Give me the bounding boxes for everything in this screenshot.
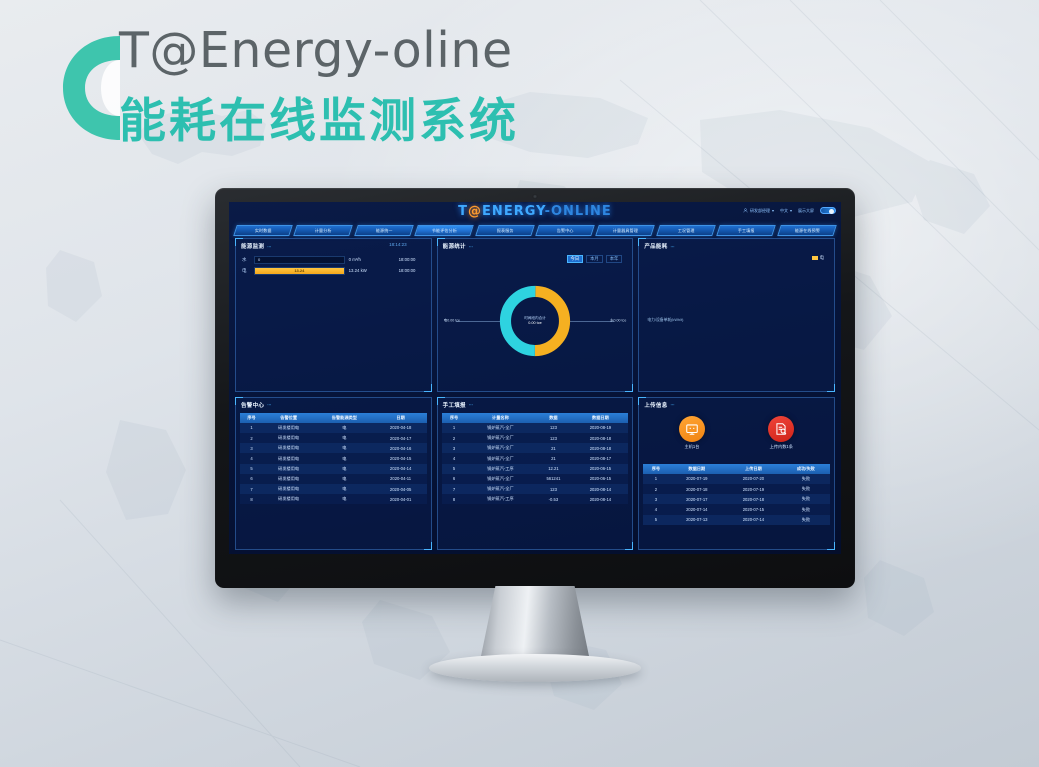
brand-prefix: T (458, 204, 468, 219)
donut-label-left: 电0.00 tce (444, 318, 460, 323)
cell-0: 8 (442, 494, 467, 504)
monitor-screen: T@ENERGY-ONLINE 研发部经理 ▾ 中文 ▾ 展示大 (229, 202, 841, 554)
cell-0: 4 (240, 453, 263, 463)
table-row[interactable]: 2研发楼用电电2020-04-17 (240, 433, 427, 443)
manual-entry-table-wrap[interactable]: 序号计量名称数据数据日期 1锅炉蒸汽-全厂1232020-08-192锅炉蒸汽-… (442, 413, 629, 548)
table-row[interactable]: 5锅炉蒸汽-工序12.212020-06-15 (442, 464, 629, 474)
user-icon (743, 208, 748, 213)
cell-1: 锅炉蒸汽-工序 (466, 464, 534, 474)
cell-1: 研发楼用电 (263, 494, 314, 504)
cell-2: 电 (314, 464, 374, 474)
cell-3: 2020-08-14 (572, 494, 628, 504)
alarm-center-table: 序号告警位置告警能源类型日期 1研发楼用电电2020-04-182研发楼用电电2… (240, 413, 427, 505)
cell-2: 21 (534, 453, 572, 463)
webcam-icon (533, 194, 538, 199)
column-header-3: 日期 (375, 413, 427, 423)
panel-more-icon-2[interactable]: ⋯ (469, 244, 473, 249)
table-row[interactable]: 1锅炉蒸汽-全厂1232020-08-19 (442, 423, 629, 433)
cell-3: 2020-04-17 (375, 433, 427, 443)
cell-2: 123 (534, 433, 572, 443)
cell-1: 研发楼用电 (263, 484, 314, 494)
upload-stat-host-label: 主机1台 (679, 444, 705, 450)
cell-1: 研发楼用电 (263, 423, 314, 433)
panel-more-icon-4[interactable]: ⋯ (267, 402, 271, 407)
cell-1: 锅炉蒸汽-全厂 (466, 474, 534, 484)
cell-1: 2020-07-14 (668, 504, 725, 514)
cell-1: 锅炉蒸汽-全厂 (466, 443, 534, 453)
energy-bar-value-electric: 13.24 (294, 268, 304, 273)
cell-1: 锅炉蒸汽-全厂 (466, 433, 534, 443)
donut-center-label: 时间段内合计 0.00 tce (524, 316, 546, 326)
donut-center-title: 时间段内合计 (524, 316, 546, 321)
column-header-3: 成功/失败 (782, 464, 830, 474)
table-row[interactable]: 3锅炉蒸汽-全厂212020-08-18 (442, 443, 629, 453)
cell-1: 研发楼用电 (263, 474, 314, 484)
dashboard: T@ENERGY-ONLINE 研发部经理 ▾ 中文 ▾ 展示大 (229, 202, 841, 554)
cell-0: 7 (442, 484, 467, 494)
cell-3: 2020-04-14 (375, 464, 427, 474)
nav-item-3[interactable]: 节能评估分析 (414, 225, 474, 236)
column-header-1: 数据日期 (668, 464, 725, 474)
cell-3: 2020-08-18 (572, 433, 628, 443)
cell-3: 2020-04-05 (375, 484, 427, 494)
cell-3: 失败 (782, 494, 830, 504)
user-menu[interactable]: 研发部经理 ▾ (743, 208, 774, 214)
panel-title-alarm-center: 告警中心 ⋯ (236, 398, 431, 411)
cell-0: 3 (643, 494, 668, 504)
panel-title-product-energy: 产品能耗 ⋯ (639, 239, 834, 252)
cell-0: 2 (240, 433, 263, 443)
legend-swatch-electric (812, 256, 818, 260)
energy-bar-value-water: 0 (258, 257, 260, 262)
cell-3: 2020-04-11 (375, 474, 427, 484)
nav-label-7: 工况管理 (678, 228, 695, 234)
upload-info-table-wrap[interactable]: 序号数据日期上传日期成功/失败 12020-07-192020-07-20失败2… (643, 464, 830, 548)
cell-0: 5 (240, 464, 263, 474)
panel-upload-info: 上传信息 ⋯ (638, 397, 835, 551)
cell-2: 21 (534, 443, 572, 453)
cell-3: 2020-04-15 (375, 453, 427, 463)
panel-more-icon[interactable]: ⋯ (267, 244, 271, 249)
panel-title-text-upload-info: 上传信息 (644, 401, 667, 409)
donut-chart-wrap: 时间段内合计 0.00 tce 电0.00 tce 水0.00 tce (438, 265, 633, 387)
cell-1: 锅炉蒸汽-全厂 (466, 453, 534, 463)
cell-2: 电 (314, 474, 374, 484)
table-row[interactable]: 2锅炉蒸汽-全厂1232020-08-18 (442, 433, 629, 443)
monitor-stand-neck (480, 586, 590, 661)
cell-2: 2020-07-19 (725, 484, 782, 494)
cell-2: 电 (314, 423, 374, 433)
page-title-chinese: 能耗在线监测系统 (119, 82, 519, 151)
cell-2: 123 (534, 484, 572, 494)
cell-0: 2 (643, 484, 668, 494)
energy-stats-tabs: 今日 本月 本年 (567, 255, 623, 263)
panel-more-icon-5[interactable]: ⋯ (469, 402, 473, 407)
cell-2: 2020-07-20 (725, 474, 782, 484)
dashboard-header: T@ENERGY-ONLINE 研发部经理 ▾ 中文 ▾ 展示大 (229, 202, 841, 222)
donut-center-value: 0.00 tce (524, 321, 546, 326)
nav-item-8[interactable]: 手工填报 (716, 225, 776, 236)
cell-3: 2020-04-01 (375, 494, 427, 504)
cell-1: 2020-07-18 (668, 484, 725, 494)
cell-0: 3 (442, 443, 467, 453)
tab-year[interactable]: 本年 (606, 255, 623, 263)
nav-label-8: 手工填报 (738, 228, 755, 234)
alarm-center-table-wrap[interactable]: 序号告警位置告警能源类型日期 1研发楼用电电2020-04-182研发楼用电电2… (240, 413, 427, 548)
nav-label-0: 实时数据 (255, 228, 272, 234)
table-row[interactable]: 22020-07-182020-07-19失败 (643, 484, 830, 494)
cell-0: 7 (240, 484, 263, 494)
energy-bar-electric: 13.24 (254, 267, 345, 275)
panel-alarm-center: 告警中心 ⋯ 序号告警位置告警能源类型日期 1研发楼用电电2020-04-182… (235, 397, 432, 551)
panel-title-text-manual-entry: 手工填报 (443, 401, 466, 409)
fullscreen-toggle-label: 展示大屏 (798, 208, 814, 214)
brand-suffix: -ONLINE (545, 204, 612, 219)
monitor-stand-base (429, 654, 641, 682)
nav-item-2[interactable]: 能源统一 (354, 225, 414, 236)
legend-label-electric: 电 (820, 255, 824, 261)
upload-info-table: 序号数据日期上传日期成功/失败 12020-07-192020-07-20失败2… (643, 464, 830, 525)
table-row[interactable]: 7锅炉蒸汽-全厂1232020-08-14 (442, 484, 629, 494)
cell-2: 561241 (534, 474, 572, 484)
column-header-0: 序号 (442, 413, 467, 423)
nav-item-6[interactable]: 计量器具管理 (596, 225, 656, 236)
header-controls: 研发部经理 ▾ 中文 ▾ 展示大屏 (743, 207, 836, 214)
cell-3: 失败 (782, 504, 830, 514)
cell-1: 锅炉蒸汽-全厂 (466, 484, 534, 494)
column-header-1: 告警位置 (263, 413, 314, 423)
panel-manual-entry: 手工填报 ⋯ 序号计量名称数据数据日期 1锅炉蒸汽-全厂1232020-08-1… (437, 397, 634, 551)
main-nav: 实时数据 计量分析 能源统一 节能评估分析 报表服务 告警中心 计量器具管理 工… (229, 222, 841, 236)
cell-3: 2020-08-19 (572, 423, 628, 433)
cell-0: 8 (240, 494, 263, 504)
cell-0: 1 (442, 423, 467, 433)
panel-product-energy: 产品能耗 ⋯ 电 电力/设备单耗(kWh/t) (638, 238, 835, 392)
nav-label-1: 计量分析 (315, 228, 332, 234)
cell-2: 电 (314, 433, 374, 443)
upload-stat-icons: 主机1台 (639, 411, 834, 452)
cell-0: 6 (442, 474, 467, 484)
nav-item-9[interactable]: 能源在线预警 (777, 225, 837, 236)
cell-0: 3 (240, 443, 263, 453)
language-menu[interactable]: 中文 ▾ (780, 208, 792, 214)
cell-2: 2020-07-15 (725, 504, 782, 514)
table-row[interactable]: 52020-07-132020-07-14失败 (643, 515, 830, 525)
cell-3: 2020-08-17 (572, 453, 628, 463)
panel-title-text-energy-stats: 能源统计 (443, 242, 466, 250)
chevron-down-icon: ▾ (772, 208, 774, 213)
brand-at-symbol: @ (468, 204, 482, 219)
cell-0: 5 (442, 464, 467, 474)
cell-2: 2020-07-14 (725, 515, 782, 525)
panel-title-text-alarm-center: 告警中心 (241, 401, 264, 409)
cell-1: 锅炉蒸汽-全厂 (466, 423, 534, 433)
nav-item-0[interactable]: 实时数据 (233, 225, 293, 236)
table-row[interactable]: 8研发楼用电电2020-04-01 (240, 494, 427, 504)
terminal-icon (679, 416, 705, 442)
cell-1: 研发楼用电 (263, 433, 314, 443)
table-row[interactable]: 12020-07-192020-07-20失败 (643, 474, 830, 484)
panel-more-icon-3[interactable]: ⋯ (671, 244, 675, 249)
user-name: 研发部经理 (750, 208, 770, 214)
cell-0: 1 (240, 423, 263, 433)
column-header-0: 序号 (643, 464, 668, 474)
table-header-row: 序号告警位置告警能源类型日期 (240, 413, 427, 423)
nav-label-3: 节能评估分析 (432, 228, 457, 234)
panel-title-upload-info: 上传信息 ⋯ (639, 398, 834, 411)
dashboard-brand-logo: T@ENERGY-ONLINE (458, 204, 612, 219)
language-label: 中文 (780, 208, 788, 214)
panel-title-text-energy-monitor: 能源监测 (241, 242, 264, 250)
upload-stat-records[interactable]: 上传内数1条 (768, 416, 794, 450)
page-headline: T@Energy-oline 能耗在线监测系统 (57, 26, 617, 156)
nav-item-5[interactable]: 告警中心 (535, 225, 595, 236)
cell-3: 2020-06-15 (572, 464, 628, 474)
tab-today[interactable]: 今日 (567, 255, 584, 263)
cell-3: 2020-06-15 (572, 474, 628, 484)
cell-0: 5 (643, 515, 668, 525)
upload-stat-records-label: 上传内数1条 (768, 444, 794, 450)
energy-row-water: 水 0 0 m³/h 18:00:00 (242, 254, 425, 265)
cell-0: 1 (643, 474, 668, 484)
cell-2: 123 (534, 423, 572, 433)
table-row[interactable]: 4研发楼用电电2020-04-15 (240, 453, 427, 463)
nav-label-6: 计量器具管理 (613, 228, 638, 234)
panel-grid: 能源监测 ⋯ 18:14:23 水 0 0 m³/h 18:00:00 (235, 238, 835, 550)
table-row[interactable]: 4锅炉蒸汽-全厂212020-08-17 (442, 453, 629, 463)
table-row[interactable]: 32020-07-172020-07-18失败 (643, 494, 830, 504)
cell-0: 2 (442, 433, 467, 443)
cell-1: 2020-07-17 (668, 494, 725, 504)
column-header-3: 数据日期 (572, 413, 628, 423)
energy-row-electric: 电 13.24 13.24 kW 18:00:00 (242, 265, 425, 276)
nav-label-9: 能源在线预警 (794, 228, 819, 234)
table-row[interactable]: 42020-07-142020-07-15失败 (643, 504, 830, 514)
chevron-down-icon-2: ▾ (790, 208, 792, 213)
cell-2: 电 (314, 443, 374, 453)
cell-2: 电 (314, 453, 374, 463)
cell-3: 失败 (782, 515, 830, 525)
nav-item-4[interactable]: 报表服务 (475, 225, 535, 236)
table-row[interactable]: 7研发楼用电电2020-04-05 (240, 484, 427, 494)
column-header-2: 上传日期 (725, 464, 782, 474)
cell-1: 锅炉蒸汽-工序 (466, 494, 534, 504)
energy-bar-water: 0 (254, 256, 345, 264)
panel-energy-monitor: 能源监测 ⋯ 18:14:23 水 0 0 m³/h 18:00:00 (235, 238, 432, 392)
table-header-row: 序号数据日期上传日期成功/失败 (643, 464, 830, 474)
panel-energy-stats: 能源统计 ⋯ 今日 本月 本年 (437, 238, 634, 392)
monitor-mockup: T@ENERGY-ONLINE 研发部经理 ▾ 中文 ▾ 展示大 (215, 188, 855, 588)
cell-3: 2020-04-18 (375, 423, 427, 433)
cell-2: 电 (314, 484, 374, 494)
cell-3: 失败 (782, 484, 830, 494)
page-title-english: T@Energy-oline (119, 22, 513, 79)
cell-1: 2020-07-13 (668, 515, 725, 525)
nav-label-5: 告警中心 (557, 228, 574, 234)
table-row[interactable]: 3研发楼用电电2020-04-16 (240, 443, 427, 453)
upload-stat-host[interactable]: 主机1台 (679, 416, 705, 450)
brand-mid: ENERGY (482, 204, 545, 219)
table-row[interactable]: 1研发楼用电电2020-04-18 (240, 423, 427, 433)
energy-row-reading-electric: 13.24 kW (349, 268, 395, 273)
table-row[interactable]: 8锅炉蒸汽-工序-0.532020-08-14 (442, 494, 629, 504)
column-header-2: 数据 (534, 413, 572, 423)
document-search-icon (768, 416, 794, 442)
cell-2: 2020-07-18 (725, 494, 782, 504)
nav-item-1[interactable]: 计量分析 (294, 225, 354, 236)
cell-1: 2020-07-19 (668, 474, 725, 484)
table-row[interactable]: 6研发楼用电电2020-04-11 (240, 474, 427, 484)
column-header-2: 告警能源类型 (314, 413, 374, 423)
column-header-1: 计量名称 (466, 413, 534, 423)
nav-label-4: 报表服务 (496, 228, 513, 234)
column-header-0: 序号 (240, 413, 263, 423)
cell-3: 2020-08-18 (572, 443, 628, 453)
nav-label-2: 能源统一 (376, 228, 393, 234)
nav-item-7[interactable]: 工况管理 (656, 225, 716, 236)
cell-1: 研发楼用电 (263, 453, 314, 463)
fullscreen-toggle[interactable] (820, 207, 836, 214)
cell-1: 研发楼用电 (263, 464, 314, 474)
energy-monitor-clock: 18:14:23 (389, 242, 407, 247)
cell-2: 12.21 (534, 464, 572, 474)
cell-2: 电 (314, 494, 374, 504)
cell-0: 4 (442, 453, 467, 463)
manual-entry-table: 序号计量名称数据数据日期 1锅炉蒸汽-全厂1232020-08-192锅炉蒸汽-… (442, 413, 629, 505)
energy-row-label-water: 水 (242, 257, 250, 263)
panel-more-icon-6[interactable]: ⋯ (671, 402, 675, 407)
energy-row-reading-water: 0 m³/h (349, 257, 395, 262)
tab-month[interactable]: 本月 (586, 255, 603, 263)
energy-monitor-rows: 水 0 0 m³/h 18:00:00 电 (236, 252, 431, 278)
table-row[interactable]: 5研发楼用电电2020-04-14 (240, 464, 427, 474)
panel-title-text-product-energy: 产品能耗 (644, 242, 667, 250)
table-header-row: 序号计量名称数据数据日期 (442, 413, 629, 423)
cell-1: 研发楼用电 (263, 443, 314, 453)
cell-0: 4 (643, 504, 668, 514)
donut-label-right: 水0.00 tce (610, 318, 626, 323)
cell-3: 2020-08-14 (572, 484, 628, 494)
energy-row-time-electric: 18:00:00 (399, 268, 425, 273)
cell-3: 2020-04-16 (375, 443, 427, 453)
cell-0: 6 (240, 474, 263, 484)
cell-2: -0.53 (534, 494, 572, 504)
table-row[interactable]: 6锅炉蒸汽-全厂5612412020-06-15 (442, 474, 629, 484)
cell-3: 失败 (782, 474, 830, 484)
energy-row-time-water: 18:00:00 (399, 257, 425, 262)
panel-title-manual-entry: 手工填报 ⋯ (438, 398, 633, 411)
panel-title-energy-stats: 能源统计 ⋯ (438, 239, 633, 252)
product-energy-legend: 电 (812, 255, 824, 261)
product-energy-axis-note: 电力/设备单耗(kWh/t) (647, 318, 683, 323)
energy-row-label-electric: 电 (242, 268, 250, 274)
